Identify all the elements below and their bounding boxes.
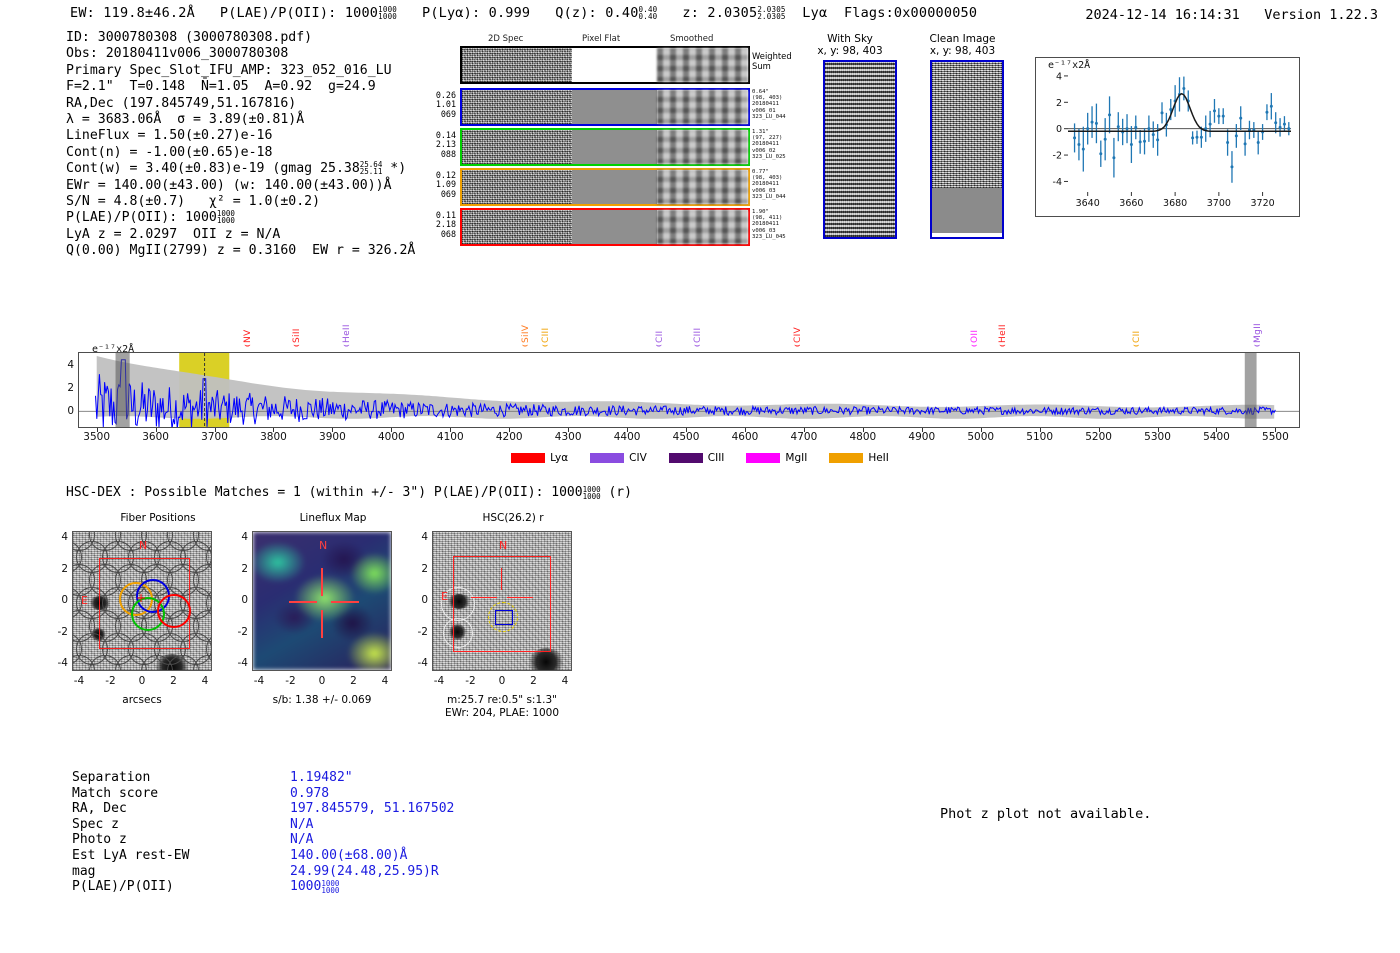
emission-line-legend: LyαCIVCIIIMgIIHeII bbox=[0, 452, 1400, 464]
crosshair-horizontal bbox=[331, 601, 359, 603]
tick-mark bbox=[1216, 428, 1217, 432]
panel-xtick: 0 bbox=[310, 675, 334, 687]
table-row-key: Est LyA rest-EW bbox=[72, 848, 290, 864]
table-row-value: 1.19482" bbox=[290, 770, 353, 785]
hsc-r-title: HSC(26.2) r bbox=[428, 512, 598, 524]
hsc-r-xlabel: m:25.7 re:0.5" s:1.3" bbox=[427, 694, 577, 706]
svg-text:0: 0 bbox=[1056, 124, 1062, 135]
header-z-label: z: 2.0305 bbox=[682, 5, 757, 21]
panel-xtick: -2 bbox=[279, 675, 303, 687]
header-line-name: Lyα bbox=[802, 5, 827, 21]
cutout-clean-image bbox=[930, 60, 1004, 239]
emission-line-label-cii: CII bbox=[1132, 313, 1142, 343]
tick-mark bbox=[745, 428, 746, 432]
table-row: Match score0.978 bbox=[72, 786, 454, 802]
table-row: P(LAE)/P(OII)100010001000 bbox=[72, 879, 454, 895]
gmag-range: 25.6425.11 bbox=[360, 161, 383, 175]
emission-line-label-heii: HeII bbox=[998, 313, 1008, 343]
full-spectrum-xtick: 4300 bbox=[548, 431, 588, 443]
table-row-value: 140.00(±68.00)Å bbox=[290, 848, 407, 863]
crosshair-horizontal bbox=[471, 597, 497, 598]
tick-mark bbox=[627, 428, 628, 432]
emission-line-label-nv: NV bbox=[243, 313, 253, 343]
spec2d-row1-left-label: 0.26 1.01 069 bbox=[430, 91, 456, 119]
panel-xtick: -4 bbox=[67, 675, 91, 687]
hsc-r-panel[interactable]: N E bbox=[432, 531, 572, 671]
full-spectrum-ytick: 0 bbox=[58, 405, 74, 417]
table-row-value: N/A bbox=[290, 817, 313, 832]
panel-ytick: 4 bbox=[46, 531, 68, 543]
spec2d-row2-right-label: 1.31" (97, 227) 20180411 v006_02 323_LU_… bbox=[752, 129, 812, 160]
panel-ytick: -4 bbox=[406, 657, 428, 669]
tick-mark bbox=[332, 428, 333, 432]
fiber-positions-panel[interactable]: + N E bbox=[72, 531, 212, 671]
tick-mark bbox=[686, 428, 687, 432]
full-spectrum-ytick: 2 bbox=[58, 382, 74, 394]
emission-line-bracket: ⌣ bbox=[293, 340, 300, 351]
full-spectrum-xtick: 4400 bbox=[607, 431, 647, 443]
full-spectrum-xtick: 3800 bbox=[253, 431, 293, 443]
spec2d-row-3 bbox=[460, 168, 750, 206]
spec2d-col-header-2dspec: 2D Spec bbox=[488, 34, 523, 44]
emission-line-label-cii: CII bbox=[655, 313, 665, 343]
table-row: mag24.99(24.48,25.95)R bbox=[72, 864, 454, 880]
full-spectrum-xtick: 5300 bbox=[1138, 431, 1178, 443]
target-marker-icon: + bbox=[136, 591, 146, 605]
tick-mark bbox=[863, 428, 864, 432]
full-spectrum-xtick: 4100 bbox=[430, 431, 470, 443]
spec2d-col-header-smoothed: Smoothed bbox=[670, 34, 713, 44]
emission-line-label-ciii: CIII bbox=[693, 313, 703, 343]
header-timestamp-version: 2024-12-14 16:14:31 Version 1.22.3 bbox=[1085, 7, 1378, 23]
panel-ytick: 4 bbox=[226, 531, 248, 543]
crosshair-horizontal bbox=[507, 597, 533, 598]
header-version: Version 1.22.3 bbox=[1264, 7, 1378, 23]
cutout-1-title: Clean Imagex, y: 98, 403 bbox=[905, 33, 1020, 57]
panel-ytick: -4 bbox=[46, 657, 68, 669]
legend-item-civ: CIV bbox=[590, 452, 647, 464]
crosshair-vertical bbox=[501, 568, 502, 590]
full-spectrum-xtick: 4800 bbox=[843, 431, 883, 443]
fiber-positions-title: Fiber Positions bbox=[68, 512, 248, 524]
table-row: RA, Dec197.845579, 51.167502 bbox=[72, 801, 454, 817]
table-row-value: 197.845579, 51.167502 bbox=[290, 801, 454, 816]
panel-ytick: 2 bbox=[406, 563, 428, 575]
tick-mark bbox=[97, 428, 98, 432]
panel-xtick: 0 bbox=[130, 675, 154, 687]
source-info-block: ID: 3000780308 (3000780308.pdf) Obs: 201… bbox=[66, 30, 415, 260]
crosshair-vertical bbox=[321, 610, 323, 638]
full-spectrum-xtick: 5000 bbox=[961, 431, 1001, 443]
panel-xtick: 2 bbox=[342, 675, 366, 687]
legend-swatch bbox=[590, 453, 624, 463]
spec2d-row4-left-label: 0.11 2.18 068 bbox=[430, 211, 456, 239]
header-plae-label: P(LAE)/P(OII): 1000 bbox=[220, 5, 378, 21]
tick-mark bbox=[1275, 428, 1276, 432]
legend-item-lyα: Lyα bbox=[511, 452, 568, 464]
full-spectrum-xtick: 4500 bbox=[666, 431, 706, 443]
panel-ytick: -2 bbox=[46, 626, 68, 638]
spec2d-row-weighted-sum bbox=[460, 46, 750, 84]
emission-line-label-ciii: CIII bbox=[541, 313, 551, 343]
full-spectrum-units-label: e⁻¹⁷x2Å bbox=[92, 344, 134, 355]
info-plae-fraction: 10001000 bbox=[217, 210, 235, 224]
svg-text:3680: 3680 bbox=[1163, 198, 1187, 209]
table-row-value: 0.978 bbox=[290, 786, 329, 801]
tick-mark bbox=[568, 428, 569, 432]
svg-text:-2: -2 bbox=[1053, 151, 1062, 162]
tick-mark bbox=[391, 428, 392, 432]
panel-ytick: 2 bbox=[46, 563, 68, 575]
header-flags: Flags:0x00000050 bbox=[844, 5, 977, 21]
svg-text:-4: -4 bbox=[1053, 177, 1062, 188]
header-qz-fraction: 0.400.40 bbox=[639, 6, 658, 20]
info-line-wavelength: λ = 3683.06Å σ = 3.89(±0.81)Å bbox=[66, 112, 415, 128]
photz-note: Phot z plot not available. bbox=[940, 806, 1151, 822]
panel-xtick: -4 bbox=[427, 675, 451, 687]
spec2d-row-2 bbox=[460, 128, 750, 166]
full-spectrum-xtick: 5200 bbox=[1079, 431, 1119, 443]
panel-xtick: 0 bbox=[490, 675, 514, 687]
panel-ytick: -4 bbox=[226, 657, 248, 669]
svg-text:3640: 3640 bbox=[1076, 198, 1100, 209]
header-plya: P(Lyα): 0.999 bbox=[422, 5, 530, 21]
emission-line-bracket: ⌣ bbox=[971, 340, 978, 351]
full-spectrum-xtick: 3700 bbox=[195, 431, 235, 443]
full-spectrum-xtick: 3500 bbox=[77, 431, 117, 443]
panel-ytick: 4 bbox=[406, 531, 428, 543]
full-spectrum-xtick: 5400 bbox=[1196, 431, 1236, 443]
legend-swatch bbox=[829, 453, 863, 463]
emission-line-label-siiv: SiIV bbox=[521, 313, 531, 343]
emission-line-label-civ: CIV bbox=[793, 313, 803, 343]
emission-line-bracket: ⌣ bbox=[343, 340, 350, 351]
table-row: Separation1.19482" bbox=[72, 770, 454, 786]
fiber-circle-red[interactable] bbox=[157, 594, 191, 628]
svg-text:2: 2 bbox=[1056, 98, 1062, 109]
info-line-ewr: EWr = 140.00(±43.00) (w: 140.00(±43.00))… bbox=[66, 178, 415, 194]
table-row-key: P(LAE)/P(OII) bbox=[72, 879, 290, 895]
tick-mark bbox=[509, 428, 510, 432]
table-row: Est LyA rest-EW140.00(±68.00)Å bbox=[72, 848, 454, 864]
panel-xtick: -2 bbox=[99, 675, 123, 687]
emission-line-bracket: ⌣ bbox=[244, 340, 251, 351]
crosshair-vertical bbox=[321, 568, 323, 596]
spec2d-col-header-pixelflat: Pixel Flat bbox=[582, 34, 620, 44]
legend-swatch bbox=[511, 453, 545, 463]
cutout-0-title: With Skyx, y: 98, 403 bbox=[800, 33, 900, 57]
full-spectrum-xtick: 4000 bbox=[371, 431, 411, 443]
tick-mark bbox=[1099, 428, 1100, 432]
emission-line-bracket: ⌣ bbox=[542, 340, 549, 351]
spec2d-row-4 bbox=[460, 208, 750, 246]
emission-line-label-heii: HeII bbox=[342, 313, 352, 343]
match-detail-table: Separation1.19482"Match score0.978RA, De… bbox=[72, 770, 454, 895]
emission-line-label-mgii: MgII bbox=[1253, 313, 1263, 343]
emission-line-bracket: ⌣ bbox=[656, 340, 663, 351]
info-line-plae: P(LAE)/P(OII): 100010001000 bbox=[66, 210, 415, 226]
weighted-sum-label: Weighted Sum bbox=[752, 52, 792, 71]
compass-n-label: N bbox=[319, 539, 327, 552]
tick-mark bbox=[804, 428, 805, 432]
compass-e-label: E bbox=[441, 590, 448, 603]
emission-line-bracket: ⌣ bbox=[794, 340, 801, 351]
info-line-primary-spec: Primary Spec_Slot_IFU_AMP: 323_052_016_L… bbox=[66, 63, 415, 79]
panel-ytick: 0 bbox=[46, 594, 68, 606]
full-spectrum-xtick: 3600 bbox=[136, 431, 176, 443]
info-line-continuum-wide: Cont(w) = 3.40(±0.83)e-19 (gmag 25.3825.… bbox=[66, 161, 415, 177]
panel-ytick: -2 bbox=[406, 626, 428, 638]
table-row-key: RA, Dec bbox=[72, 801, 290, 817]
full-spectrum-xtick: 5500 bbox=[1255, 431, 1295, 443]
full-spectrum-xtick: 5100 bbox=[1020, 431, 1060, 443]
spec2d-row4-right-label: 1.90" (98, 411) 20180411 v006_03 323_LU_… bbox=[752, 209, 812, 240]
emission-line-bracket: ⌣ bbox=[694, 340, 701, 351]
info-line-id: ID: 3000780308 (3000780308.pdf) bbox=[66, 30, 415, 46]
table-row: Photo zN/A bbox=[72, 832, 454, 848]
full-spectrum-svg bbox=[79, 353, 1299, 427]
legend-label: CIV bbox=[629, 452, 647, 464]
spec2d-row1-right-label: 0.64" (98, 403) 20180411 v006_01 323_LU_… bbox=[752, 89, 812, 120]
compass-n-label: N bbox=[139, 539, 147, 552]
full-spectrum-xtick: 4900 bbox=[902, 431, 942, 443]
cutout-with-sky bbox=[823, 60, 897, 239]
emission-line-bracket: ⌣ bbox=[1254, 340, 1261, 351]
panel-ytick: 0 bbox=[226, 594, 248, 606]
spec2d-row3-right-label: 0.77" (98, 403) 20180411 v006_03 323_LU_… bbox=[752, 169, 812, 200]
tick-mark bbox=[273, 428, 274, 432]
emission-line-label-siii: SiII bbox=[292, 313, 302, 343]
panel-xtick: 2 bbox=[522, 675, 546, 687]
table-row-key: mag bbox=[72, 864, 290, 880]
full-spectrum-xtick: 4700 bbox=[784, 431, 824, 443]
header-qz-label: Q(z): 0.40 bbox=[555, 5, 638, 21]
legend-label: CIII bbox=[708, 452, 725, 464]
legend-label: MgII bbox=[785, 452, 807, 464]
hsc-plae-fraction: 10001000 bbox=[583, 486, 601, 500]
svg-text:3700: 3700 bbox=[1207, 198, 1231, 209]
info-line-continuum-narrow: Cont(n) = -1.00(±0.65)e-18 bbox=[66, 145, 415, 161]
legend-label: Lyα bbox=[550, 452, 568, 464]
tick-mark bbox=[981, 428, 982, 432]
match-box-blue bbox=[495, 610, 513, 625]
table-row-fraction: 10001000 bbox=[321, 880, 339, 894]
full-spectrum-xtick: 4600 bbox=[725, 431, 765, 443]
panel-ytick: 2 bbox=[226, 563, 248, 575]
full-spectrum-plot bbox=[78, 352, 1300, 428]
table-row: Spec zN/A bbox=[72, 817, 454, 833]
panel-xtick: -4 bbox=[247, 675, 271, 687]
info-line-radec: RA,Dec (197.845749,51.167816) bbox=[66, 96, 415, 112]
info-line-q-mgii: Q(0.00) MgII(2799) z = 0.3160 EW r = 326… bbox=[66, 243, 415, 259]
table-row-value: 24.99(24.48,25.95)R bbox=[290, 864, 439, 879]
header-plae-fraction: 10001000 bbox=[378, 6, 397, 20]
panel-xtick: 4 bbox=[373, 675, 397, 687]
table-row-key: Match score bbox=[72, 786, 290, 802]
svg-text:3660: 3660 bbox=[1119, 198, 1143, 209]
info-line-seeing: F=2.1" T=0.148 N̄=1.05 A=0.92 g=24.9 bbox=[66, 79, 415, 95]
legend-item-heii: HeII bbox=[829, 452, 889, 464]
panel-xtick: 4 bbox=[553, 675, 577, 687]
header-z-fraction: 2.03052.0305 bbox=[757, 6, 785, 20]
panel-ytick: 0 bbox=[406, 594, 428, 606]
table-row-key: Separation bbox=[72, 770, 290, 786]
svg-text:3720: 3720 bbox=[1250, 198, 1274, 209]
full-spectrum-ytick: 4 bbox=[58, 359, 74, 371]
tick-mark bbox=[1158, 428, 1159, 432]
tick-mark bbox=[922, 428, 923, 432]
header-datetime: 2024-12-14 16:14:31 bbox=[1085, 7, 1239, 23]
tick-mark bbox=[215, 428, 216, 432]
emission-line-bracket: ⌣ bbox=[1133, 340, 1140, 351]
svg-text:4: 4 bbox=[1056, 71, 1062, 82]
spec2d-row-1 bbox=[460, 88, 750, 126]
hsc-r-caption2: EWr: 204, PLAE: 1000 bbox=[427, 707, 577, 719]
lineflux-map-panel[interactable]: N bbox=[252, 531, 392, 671]
legend-swatch bbox=[669, 453, 703, 463]
info-line-redshifts: LyA z = 2.0297 OII z = N/A bbox=[66, 227, 415, 243]
info-line-lineflux: LineFlux = 1.50(±0.27)e-16 bbox=[66, 128, 415, 144]
emission-line-label-oii: OII bbox=[970, 313, 980, 343]
panel-xtick: -2 bbox=[459, 675, 483, 687]
line-fit-units-label: e⁻¹⁷x2Å bbox=[1048, 60, 1090, 71]
info-line-snr: S/N = 4.8(±0.7) χ² = 1.0(±0.2) bbox=[66, 194, 415, 210]
spec2d-row3-left-label: 0.12 1.09 069 bbox=[430, 171, 456, 199]
line-fit-plot: -4-202436403660368037003720 bbox=[1035, 57, 1300, 217]
panel-xtick: 4 bbox=[193, 675, 217, 687]
crosshair-horizontal bbox=[289, 601, 317, 603]
panel-ytick: -2 bbox=[226, 626, 248, 638]
table-row-value: N/A bbox=[290, 832, 313, 847]
legend-label: HeII bbox=[868, 452, 889, 464]
tick-mark bbox=[450, 428, 451, 432]
hsc-dex-title: HSC-DEX : Possible Matches = 1 (within +… bbox=[66, 485, 632, 500]
table-row-key: Photo z bbox=[72, 832, 290, 848]
full-spectrum-xtick: 4200 bbox=[489, 431, 529, 443]
table-row-key: Spec z bbox=[72, 817, 290, 833]
lineflux-map-title: Lineflux Map bbox=[248, 512, 418, 524]
spec2d-row2-left-label: 0.14 2.13 088 bbox=[430, 131, 456, 159]
table-row-value: 1000 bbox=[290, 879, 321, 894]
panel-xtick: 2 bbox=[162, 675, 186, 687]
info-line-obs: Obs: 20180411v006_3000780308 bbox=[66, 46, 415, 62]
header-summary-line: EW: 119.8±46.2Å P(LAE)/P(OII): 100010001… bbox=[70, 5, 977, 21]
compass-n-label: N bbox=[499, 539, 507, 552]
emission-line-bracket: ⌣ bbox=[522, 340, 529, 351]
compass-e-label: E bbox=[81, 594, 88, 607]
legend-item-ciii: CIII bbox=[669, 452, 725, 464]
line-fit-svg: -4-202436403660368037003720 bbox=[1036, 58, 1299, 216]
legend-item-mgii: MgII bbox=[746, 452, 807, 464]
emission-line-bracket: ⌣ bbox=[999, 340, 1006, 351]
legend-swatch bbox=[746, 453, 780, 463]
tick-mark bbox=[156, 428, 157, 432]
lineflux-map-xlabel: s/b: 1.38 +/- 0.069 bbox=[247, 694, 397, 706]
header-ew: EW: 119.8±46.2Å bbox=[70, 5, 195, 21]
fiber-positions-xlabel: arcsecs bbox=[72, 694, 212, 706]
tick-mark bbox=[1040, 428, 1041, 432]
full-spectrum-xtick: 3900 bbox=[312, 431, 352, 443]
